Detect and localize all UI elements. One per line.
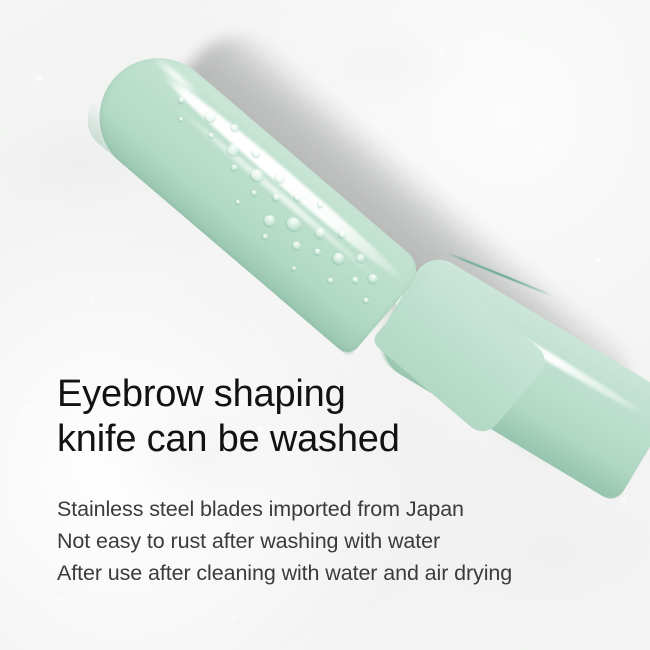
list-item: Stainless steel blades imported from Jap… [57, 493, 617, 525]
product-banner: Eyebrow shaping knife can be washed Stai… [0, 0, 650, 650]
list-item: After use after cleaning with water and … [57, 557, 617, 589]
list-item: Not easy to rust after washing with wate… [57, 525, 617, 557]
feature-list: Stainless steel blades imported from Jap… [57, 493, 617, 589]
page-title: Eyebrow shaping knife can be washed [57, 372, 617, 462]
marketing-copy: Eyebrow shaping knife can be washed Stai… [57, 372, 617, 589]
